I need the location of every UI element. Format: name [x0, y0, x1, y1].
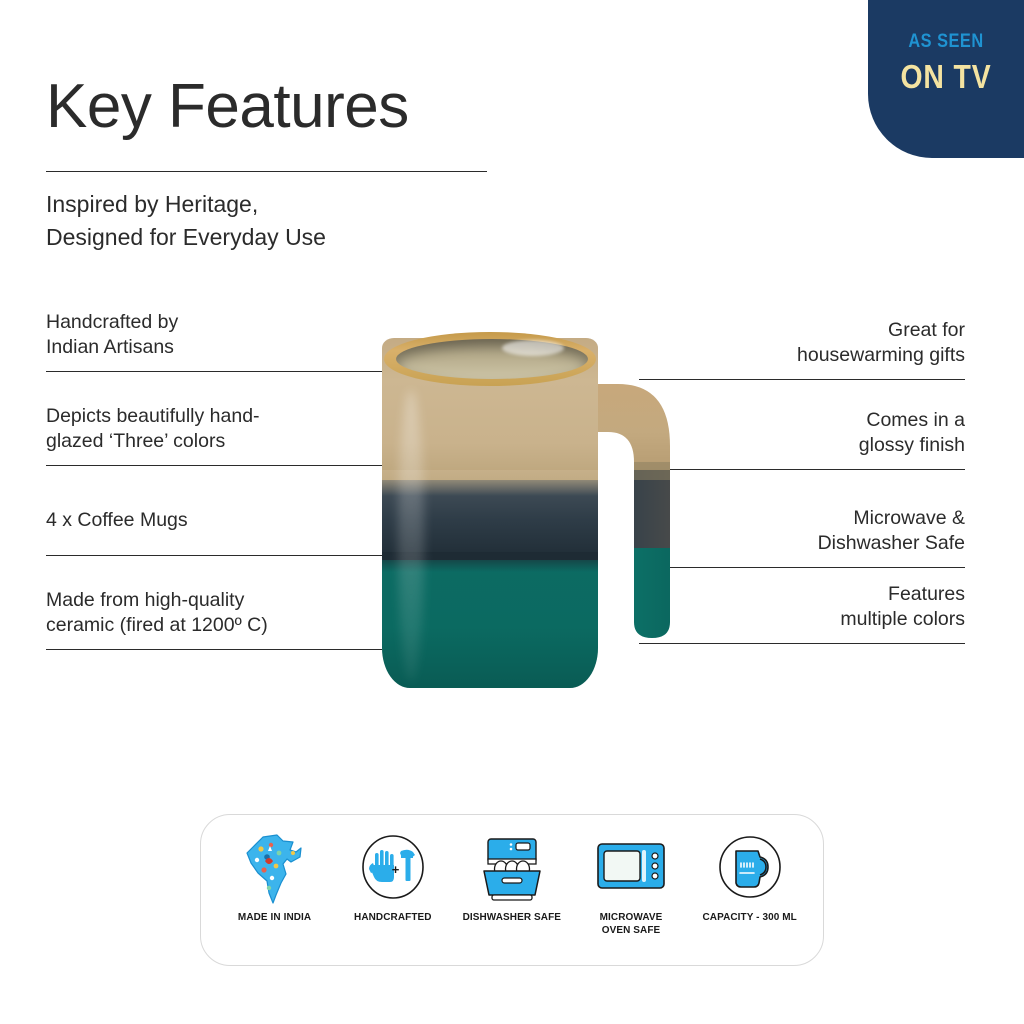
mug-rim [384, 332, 596, 386]
dishwasher-icon [474, 831, 550, 907]
feature-left-4-text: Made from high-quality ceramic (fired at… [46, 588, 382, 639]
page-subtitle: Inspired by Heritage, Designed for Every… [46, 188, 326, 253]
badge-microwave-oven-safe: MICROWAVE OVEN SAFE [572, 831, 690, 949]
badge-dishwasher-safe: DISHWASHER SAFE [453, 831, 571, 949]
microwave-icon [594, 831, 668, 907]
feature-left-2: Depicts beautifully hand- glazed ‘Three’… [46, 404, 382, 466]
jug-icon [714, 831, 786, 907]
badge-handcrafted: + HANDCRAFTED [334, 831, 452, 949]
page-title: Key Features [46, 74, 409, 139]
on-tv-label: ON TV [879, 60, 1013, 93]
product-image-mug [382, 332, 712, 694]
title-divider [46, 171, 487, 172]
badge-label: CAPACITY - 300 ML [702, 911, 796, 924]
badge-label: MADE IN INDIA [238, 911, 311, 924]
badge-capacity: CAPACITY - 300 ML [691, 831, 809, 949]
badge-made-in-india: MADE IN INDIA [215, 831, 333, 949]
hand-hammer-icon: + [357, 831, 429, 907]
feature-left-2-text: Depicts beautifully hand- glazed ‘Three’… [46, 404, 382, 455]
feature-left-3: 4 x Coffee Mugs [46, 508, 382, 556]
mug-body [382, 338, 598, 688]
feature-left-1-text: Handcrafted by Indian Artisans [46, 310, 382, 361]
mug-gloss-highlight [398, 390, 424, 682]
feature-divider [46, 465, 382, 466]
as-seen-label: AS SEEN [879, 32, 1013, 51]
feature-divider [46, 649, 382, 650]
feature-badge-bar: MADE IN INDIA + [200, 814, 824, 966]
feature-divider [46, 555, 382, 556]
feature-left-4: Made from high-quality ceramic (fired at… [46, 588, 382, 650]
badge-label: DISHWASHER SAFE [463, 911, 561, 924]
svg-text:+: + [392, 862, 400, 877]
feature-left-3-text: 4 x Coffee Mugs [46, 508, 382, 533]
as-seen-on-tv-badge: AS SEEN ON TV [868, 0, 1024, 158]
india-map-icon [243, 831, 305, 907]
badge-label: MICROWAVE OVEN SAFE [599, 911, 662, 936]
mug-rim-highlight [502, 340, 564, 356]
feature-divider [46, 371, 382, 372]
badge-label: HANDCRAFTED [354, 911, 432, 924]
feature-left-1: Handcrafted by Indian Artisans [46, 310, 382, 372]
